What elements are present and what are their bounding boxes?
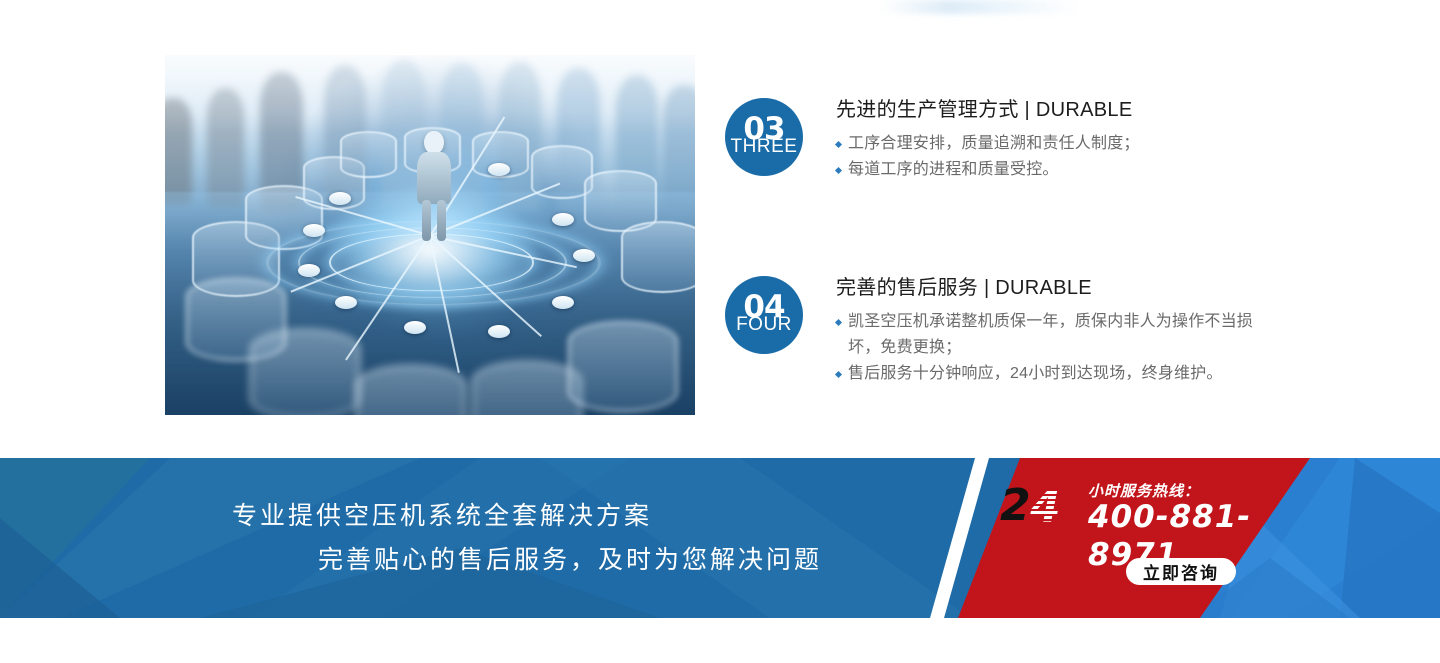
feature-title: 完善的售后服务 | DURABLE [836, 274, 1256, 302]
central-figure-icon [417, 131, 451, 239]
feature-list: 凯圣空压机承诺整机质保一年，质保内非人为操作不当损坏，免费更换； 售后服务十分钟… [836, 309, 1256, 387]
ring-object [356, 365, 466, 415]
feature-title: 先进的生产管理方式 | DURABLE [836, 96, 1256, 124]
cta-banner: 专业提供空压机系统全套解决方案 完善贴心的售后服务，及时为您解决问题 2 4 小… [0, 458, 1440, 618]
list-item: 每道工序的进程和质量受控。 [836, 157, 1256, 183]
network-node [303, 224, 325, 237]
digit-4-striped: 4 [1030, 486, 1061, 530]
network-node [329, 192, 351, 205]
ring-object [621, 221, 695, 293]
ring-object [568, 321, 678, 411]
digit-2: 2 [1000, 484, 1031, 528]
banner-right-group: 2 4 小时服务热线： 400-881-8971 立即咨询 [0, 458, 1440, 618]
hotline-block: 2 4 小时服务热线： 400-881-8971 立即咨询 [1000, 476, 1300, 600]
list-item: 工序合理安排，质量追溯和责任人制度； [836, 131, 1256, 157]
features-section: 03 THREE 先进的生产管理方式 | DURABLE 工序合理安排，质量追溯… [0, 0, 1440, 458]
network-node [298, 264, 320, 277]
badge-word: THREE [731, 138, 798, 155]
ring-object [250, 329, 360, 415]
badge-word: FOUR [736, 316, 792, 333]
ring-object [340, 131, 397, 178]
network-node [335, 296, 357, 309]
list-item: 售后服务十分钟响应，24小时到达现场，终身维护。 [836, 361, 1256, 387]
ring-object [472, 361, 582, 415]
feature-block-04-text: 完善的售后服务 | DURABLE 凯圣空压机承诺整机质保一年，质保内非人为操作… [836, 274, 1256, 387]
badge-04: 04 FOUR [725, 276, 803, 354]
feature-list: 工序合理安排，质量追溯和责任人制度； 每道工序的进程和质量受控。 [836, 131, 1256, 183]
hero-image [165, 55, 695, 415]
feature-block-03-text: 先进的生产管理方式 | DURABLE 工序合理安排，质量追溯和责任人制度； 每… [836, 96, 1256, 183]
consult-now-button[interactable]: 立即咨询 [1126, 558, 1236, 585]
badge-03: 03 THREE [725, 98, 803, 176]
list-item: 凯圣空压机承诺整机质保一年，质保内非人为操作不当损坏，免费更换； [836, 309, 1256, 361]
24-logo: 2 4 [1000, 484, 1092, 532]
